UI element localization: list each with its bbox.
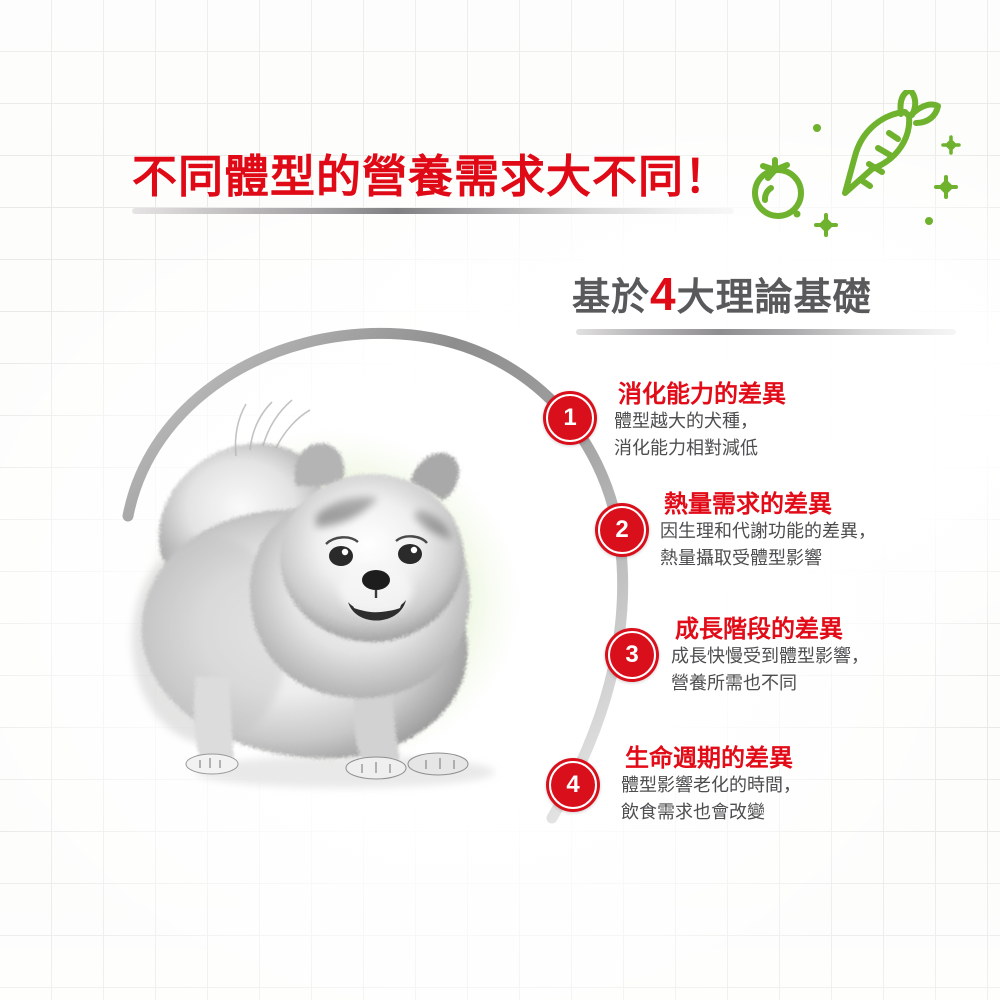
sub-title-prefix: 基於 xyxy=(572,277,650,319)
item-body-line: 體型越大的犬種， xyxy=(614,408,758,435)
item-body-4: 體型影響老化的時間， 飲食需求也會改變 xyxy=(621,772,801,827)
carrot-icon xyxy=(845,90,938,193)
item-body-line: 飲食需求也會改變 xyxy=(621,799,801,826)
item-body-line: 成長快慢受到體型影響， xyxy=(671,643,869,670)
item-heading-4: 生命週期的差異 xyxy=(625,738,793,773)
item-body-3: 成長快慢受到體型影響， 營養所需也不同 xyxy=(671,643,869,698)
item-body-line: 因生理和代謝功能的差異， xyxy=(660,518,876,545)
badge-number: 3 xyxy=(625,643,638,667)
sub-title-number: 4 xyxy=(650,268,677,320)
item-heading-2: 熱量需求的差異 xyxy=(664,484,832,519)
badge-number: 4 xyxy=(566,773,579,797)
item-body-2: 因生理和代謝功能的差異， 熱量攝取受體型影響 xyxy=(660,518,876,573)
item-body-line: 營養所需也不同 xyxy=(671,670,869,697)
badge-1[interactable]: 1 xyxy=(543,391,597,445)
item-heading-3: 成長階段的差異 xyxy=(675,609,843,644)
badge-4[interactable]: 4 xyxy=(546,758,600,812)
badge-3[interactable]: 3 xyxy=(605,628,659,682)
sub-title: 基於4大理論基礎 xyxy=(572,266,872,321)
item-body-line: 體型影響老化的時間， xyxy=(621,772,801,799)
vegetable-decoration xyxy=(735,90,995,240)
sparkle-icons xyxy=(794,124,960,235)
connector-arc xyxy=(120,320,700,850)
item-body-1: 體型越大的犬種， 消化能力相對減低 xyxy=(614,408,758,463)
item-body-line: 熱量攝取受體型影響 xyxy=(660,545,876,572)
main-title: 不同體型的營養需求大不同！ xyxy=(132,140,730,205)
badge-number: 1 xyxy=(563,406,576,430)
badge-2[interactable]: 2 xyxy=(595,503,649,557)
infographic-canvas: 不同體型的營養需求大不同！ 基於4大理論基礎 xyxy=(0,0,1000,1000)
item-body-line: 消化能力相對減低 xyxy=(614,435,758,462)
sub-title-suffix: 大理論基礎 xyxy=(677,277,872,319)
title-divider xyxy=(132,208,734,214)
badge-number: 2 xyxy=(615,518,628,542)
tomato-icon xyxy=(755,160,801,216)
item-heading-1: 消化能力的差異 xyxy=(618,374,786,409)
